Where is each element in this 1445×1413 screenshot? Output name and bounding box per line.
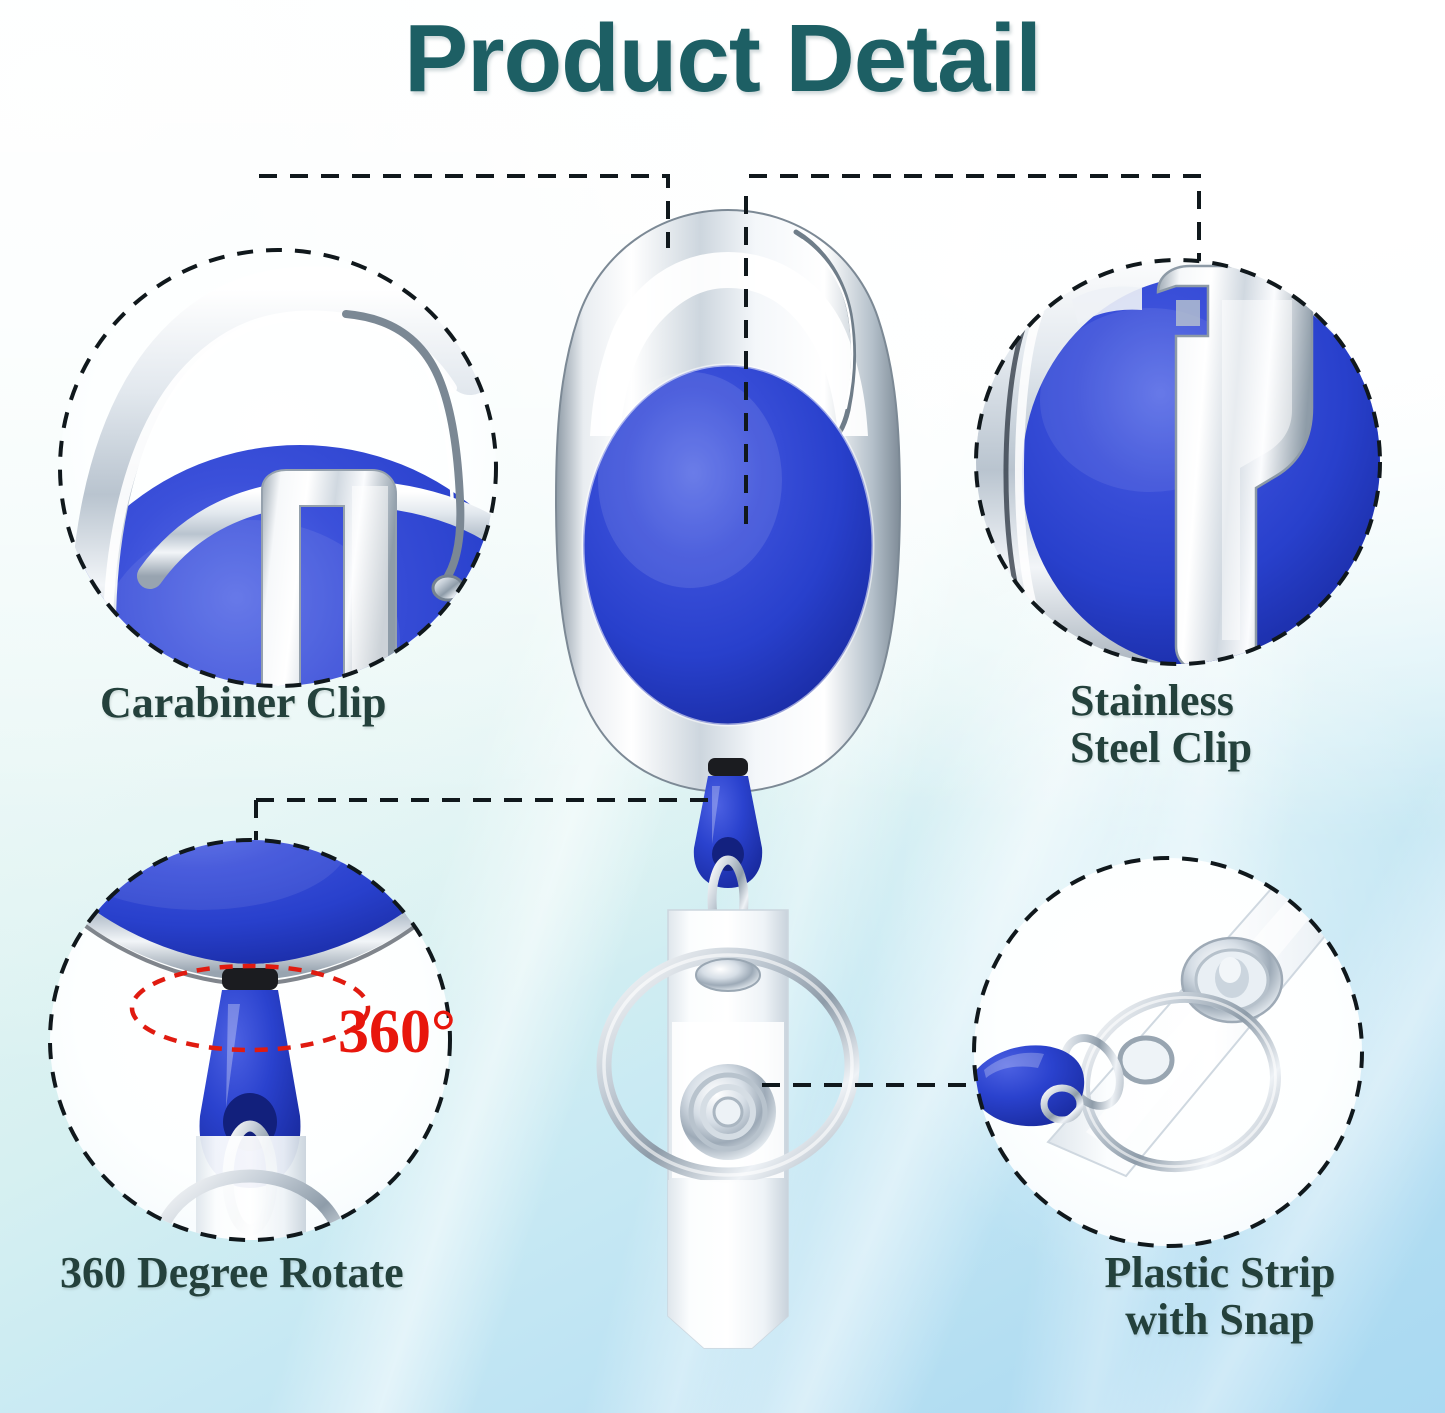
- page-title: Product Detail: [0, 4, 1445, 114]
- leader-line-carabiner: [259, 176, 668, 248]
- bl-grommet: [222, 968, 278, 990]
- leader-line-stainless: [749, 176, 1199, 268]
- callout-plastic-strip-with-snap: [968, 858, 1378, 1246]
- feature-label-360-degree-rotate: 360 Degree Rotate: [60, 1250, 404, 1297]
- rotation-degree-label: 360°: [338, 998, 456, 1066]
- product-detail-infographic: Product Detail: [0, 0, 1445, 1413]
- feature-label-plastic-strip-with-snap: Plastic Strip with Snap: [1070, 1250, 1370, 1343]
- br-strip-eyelet: [1120, 1038, 1172, 1082]
- feature-label-stainless-steel-clip: Stainless Steel Clip: [1070, 678, 1252, 771]
- tr-steel-clip-shadow: [1176, 300, 1200, 326]
- callout-stainless-steel-clip: [975, 248, 1405, 692]
- feature-label-carabiner-clip: Carabiner Clip: [100, 680, 386, 727]
- bl-dome-highlight: [50, 770, 350, 910]
- callout-360-degree-rotate: 360°: [28, 760, 470, 1324]
